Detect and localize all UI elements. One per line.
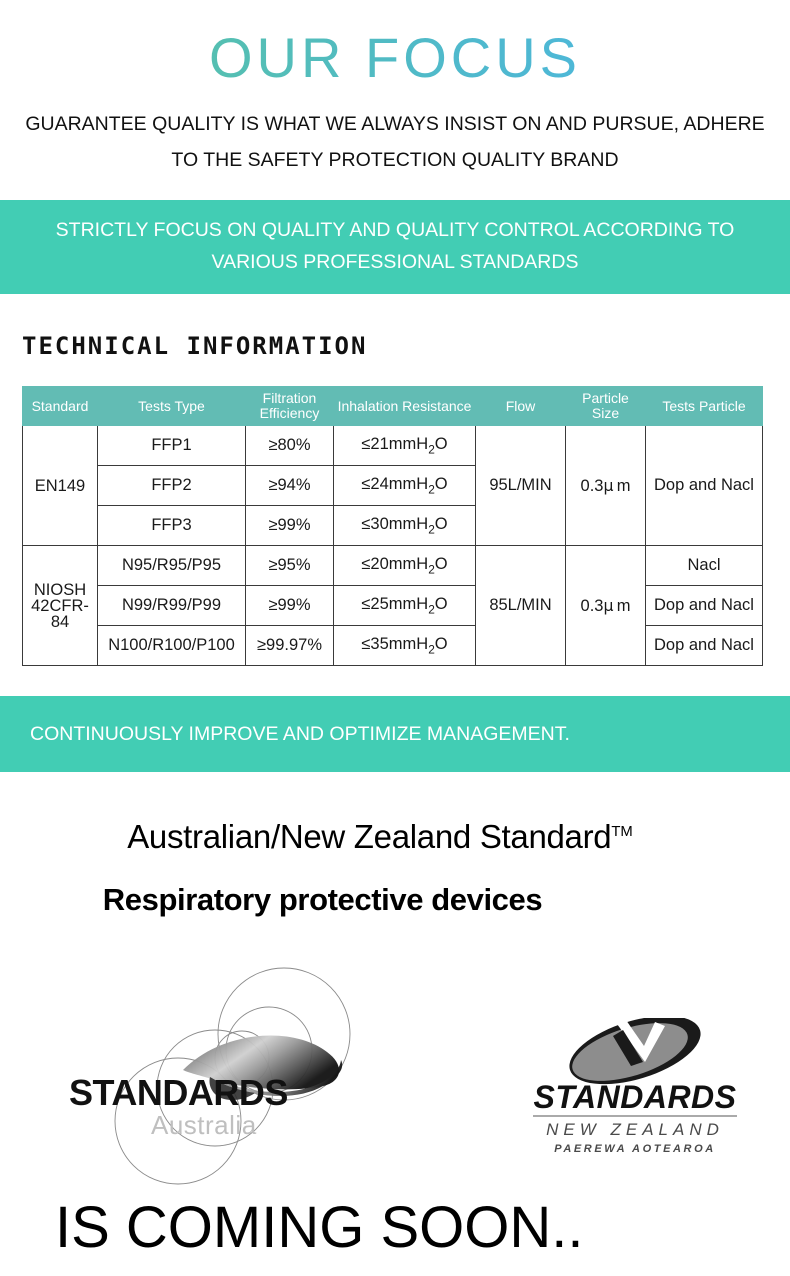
cell-tests-type: N99/R99/P99 — [98, 586, 246, 626]
cell-filtration-efficiency: ≥99% — [246, 506, 334, 546]
column-header-particle-size: Particle Size — [566, 387, 646, 426]
column-header-tests-type: Tests Type — [98, 387, 246, 426]
trademark-symbol: TM — [611, 824, 632, 840]
logo-row: STANDARDS Australia STANDARDS NEW ZEALAN… — [0, 930, 790, 1190]
cell-inhalation-resistance: ≤35mmH2O — [334, 626, 476, 666]
standards-australia-logo: STANDARDS Australia — [55, 930, 400, 1185]
technical-information-table-wrapper: Standard Tests Type Filtration Efficienc… — [22, 386, 762, 666]
hero-subtitle: GUARANTEE QUALITY IS WHAT WE ALWAYS INSI… — [0, 106, 790, 178]
table-row: N99/R99/P99 ≥99% ≤25mmH2O Dop and Nacl — [23, 586, 763, 626]
page-title: OUR FOCUS — [0, 0, 790, 86]
cell-tests-type: FFP2 — [98, 466, 246, 506]
cell-tests-type: N95/R95/P95 — [98, 546, 246, 586]
cell-tests-type: N100/R100/P100 — [98, 626, 246, 666]
table-row: EN149 FFP1 ≥80% ≤21mmH2O 95L/MIN 0.3μ m … — [23, 426, 763, 466]
cell-tests-particle: Nacl — [646, 546, 763, 586]
column-header-tests-particle: Tests Particle — [646, 387, 763, 426]
column-header-flow: Flow — [476, 387, 566, 426]
cell-tests-particle: Dop and Nacl — [646, 626, 763, 666]
technical-information-heading: TECHNICAL INFORMATION — [22, 332, 790, 360]
cell-standard-niosh: NIOSH42CFR-84 — [23, 546, 98, 666]
cell-inhalation-resistance: ≤24mmH2O — [334, 466, 476, 506]
cell-standard-en149: EN149 — [23, 426, 98, 546]
aus-nz-standard-title-text: Australian/New Zealand Standard — [127, 818, 611, 855]
cell-inhalation-resistance: ≤20mmH2O — [334, 546, 476, 586]
technical-information-table: Standard Tests Type Filtration Efficienc… — [22, 386, 763, 666]
cell-filtration-efficiency: ≥95% — [246, 546, 334, 586]
aus-nz-standard-subtitle: Respiratory protective devices — [0, 882, 790, 918]
column-header-inhalation-resistance: Inhalation Resistance — [334, 387, 476, 426]
cell-tests-type: FFP3 — [98, 506, 246, 546]
aus-nz-standard-title: Australian/New Zealand StandardTM — [0, 818, 790, 856]
coming-soon-text: IS COMING SOON.. — [55, 1198, 790, 1259]
table-header-row: Standard Tests Type Filtration Efficienc… — [23, 387, 763, 426]
table-row: N100/R100/P100 ≥99.97% ≤35mmH2O Dop and … — [23, 626, 763, 666]
cell-particle-size-niosh: 0.3μ m — [566, 546, 646, 666]
standards-new-zealand-logo: STANDARDS NEW ZEALAND PAEREWA AOTEAROA — [505, 1018, 765, 1158]
cell-particle-size-en149: 0.3μ m — [566, 426, 646, 546]
cell-flow-en149: 95L/MIN — [476, 426, 566, 546]
standards-australia-wordmark: STANDARDS — [69, 1072, 288, 1113]
cell-filtration-efficiency: ≥80% — [246, 426, 334, 466]
cell-filtration-efficiency: ≥99.97% — [246, 626, 334, 666]
column-header-standard: Standard — [23, 387, 98, 426]
standards-nz-country: NEW ZEALAND — [546, 1120, 724, 1139]
management-banner: CONTINUOUSLY IMPROVE AND OPTIMIZE MANAGE… — [0, 696, 790, 772]
cell-tests-particle-en149: Dop and Nacl — [646, 426, 763, 546]
cell-tests-particle: Dop and Nacl — [646, 586, 763, 626]
table-row: NIOSH42CFR-84 N95/R95/P95 ≥95% ≤20mmH2O … — [23, 546, 763, 586]
cell-tests-type: FFP1 — [98, 426, 246, 466]
quality-banner: STRICTLY FOCUS ON QUALITY AND QUALITY CO… — [0, 200, 790, 294]
cell-inhalation-resistance: ≤30mmH2O — [334, 506, 476, 546]
cell-inhalation-resistance: ≤25mmH2O — [334, 586, 476, 626]
cell-flow-niosh: 85L/MIN — [476, 546, 566, 666]
cell-filtration-efficiency: ≥99% — [246, 586, 334, 626]
standards-nz-wordmark: STANDARDS — [533, 1079, 736, 1115]
cell-inhalation-resistance: ≤21mmH2O — [334, 426, 476, 466]
column-header-filtration-efficiency: Filtration Efficiency — [246, 387, 334, 426]
standards-nz-maori: PAEREWA AOTEAROA — [554, 1143, 716, 1155]
standards-australia-country: Australia — [151, 1110, 257, 1140]
cell-filtration-efficiency: ≥94% — [246, 466, 334, 506]
